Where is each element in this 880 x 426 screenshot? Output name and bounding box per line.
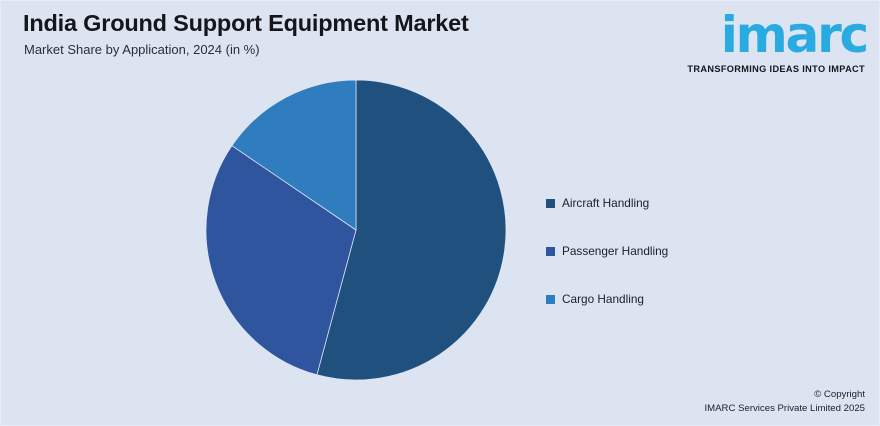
imarc-logo: imarc TRANSFORMING IDEAS INTO IMPACT — [682, 9, 867, 77]
legend-item-label: Passenger Handling — [562, 244, 668, 258]
legend-item-label: Cargo Handling — [562, 292, 644, 306]
legend-swatch-icon — [546, 247, 555, 256]
legend-item-label: Aircraft Handling — [562, 196, 649, 210]
legend-item-passenger-handling[interactable]: Passenger Handling — [546, 227, 846, 275]
imarc-wordmark: imarc — [721, 11, 867, 59]
legend-swatch-icon — [546, 295, 555, 304]
chart-canvas: India Ground Support Equipment Market Ma… — [0, 0, 880, 426]
copyright-footer: © Copyright IMARC Services Private Limit… — [705, 388, 866, 416]
chart-legend: Aircraft Handling Passenger Handling Car… — [546, 179, 846, 323]
page-title: India Ground Support Equipment Market — [23, 10, 469, 37]
pie-chart-svg — [206, 80, 506, 380]
copyright-line-2: IMARC Services Private Limited 2025 — [705, 402, 866, 416]
legend-item-cargo-handling[interactable]: Cargo Handling — [546, 275, 846, 323]
legend-swatch-icon — [546, 199, 555, 208]
legend-item-aircraft-handling[interactable]: Aircraft Handling — [546, 179, 846, 227]
imarc-tagline: TRANSFORMING IDEAS INTO IMPACT — [687, 64, 865, 74]
pie-chart — [206, 80, 506, 380]
chart-subtitle: Market Share by Application, 2024 (in %) — [24, 42, 260, 57]
copyright-line-1: © Copyright — [705, 388, 866, 402]
